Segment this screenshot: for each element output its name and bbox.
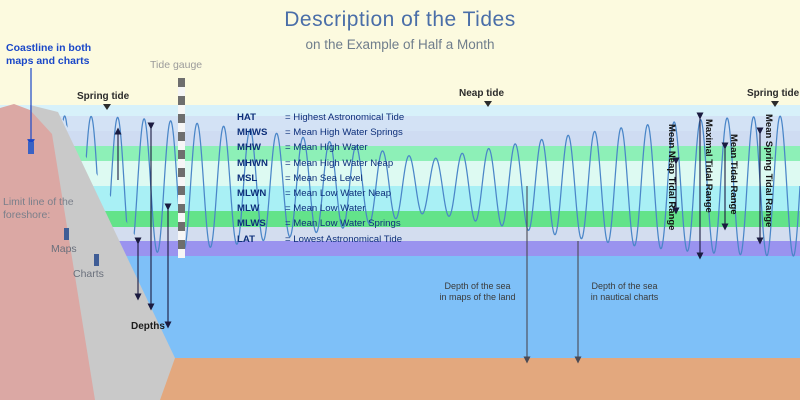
neap-tide-label: Neap tide xyxy=(459,88,504,99)
charts-label: Charts xyxy=(73,268,104,280)
legend-row: MLWS= Mean Low Water Springs xyxy=(237,216,404,231)
gauge-stripe xyxy=(178,249,185,258)
legend-row: MHWN= Mean High Water Neap xyxy=(237,156,404,171)
legend-abbr: MLWN xyxy=(237,186,285,201)
gauge-stripe xyxy=(178,132,185,141)
gauge-stripe xyxy=(178,231,185,240)
vrange-mean-neap: Mean Neap Tidal Range xyxy=(666,124,677,230)
legend-abbr: MHWN xyxy=(237,156,285,171)
gauge-stripe xyxy=(178,186,185,195)
limit-note-line1: Limit line of the xyxy=(3,196,74,209)
legend-abbr: MHW xyxy=(237,140,285,155)
legend-abbr: MSL xyxy=(237,171,285,186)
gauge-stripe xyxy=(178,105,185,114)
coastline-note: Coastline in both maps and charts xyxy=(6,42,91,68)
legend-row: HAT= Highest Astronomical Tide xyxy=(237,110,404,125)
tidal-curve xyxy=(58,116,800,256)
tide-diagram: Description of the Tides on the Example … xyxy=(0,0,800,400)
page-title: Description of the Tides xyxy=(0,8,800,32)
gauge-stripe xyxy=(178,78,185,87)
legend-abbr: MLWS xyxy=(237,216,285,231)
spring-tide-label-left: Spring tide xyxy=(77,91,129,102)
legend-definition: = Lowest Astronomical Tide xyxy=(285,232,402,247)
coastline-note-line1: Coastline in both xyxy=(6,42,91,55)
legend-block: HAT= Highest Astronomical TideMHWS= Mean… xyxy=(237,110,404,247)
legend-abbr: LAT xyxy=(237,232,285,247)
legend-definition: = Mean Low Water Springs xyxy=(285,216,401,231)
gauge-stripe xyxy=(178,114,185,123)
gauge-stripe xyxy=(178,123,185,132)
tide-gauge-pole xyxy=(178,78,185,258)
legend-abbr: MHWS xyxy=(237,125,285,140)
vrange-mean-spring: Mean Spring Tidal Range xyxy=(763,114,774,227)
limit-marker-maps xyxy=(64,228,69,240)
tide-gauge-label: Tide gauge xyxy=(150,59,202,71)
legend-row: MHWS= Mean High Water Springs xyxy=(237,125,404,140)
spring-tide-marker-right xyxy=(771,101,779,107)
vrange-mean: Mean Tidal Range xyxy=(728,134,739,215)
legend-definition: = Mean Low Water xyxy=(285,201,365,216)
gauge-stripe xyxy=(178,159,185,168)
page-subtitle: on the Example of Half a Month xyxy=(0,37,800,52)
gauge-stripe xyxy=(178,141,185,150)
coastline-marker xyxy=(28,142,34,154)
gauge-stripe xyxy=(178,240,185,249)
gauge-stripe xyxy=(178,168,185,177)
neap-tide-marker xyxy=(484,101,492,107)
coastline-note-line2: maps and charts xyxy=(6,55,91,68)
legend-abbr: MLW xyxy=(237,201,285,216)
depth-charts-caption: Depth of the sea in nautical charts xyxy=(572,281,677,303)
gauge-stripe xyxy=(178,150,185,159)
legend-definition: = Mean High Water Springs xyxy=(285,125,403,140)
spring-tide-label-right: Spring tide xyxy=(747,88,799,99)
depths-label: Depths xyxy=(131,321,165,332)
gauge-stripe xyxy=(178,204,185,213)
depth-charts-line1: Depth of the sea xyxy=(572,281,677,292)
gauge-stripe xyxy=(178,195,185,204)
vrange-maximal: Maximal Tidal Range xyxy=(703,119,714,213)
limit-line-note: Limit line of the foreshore: xyxy=(3,196,74,222)
gauge-stripe xyxy=(178,177,185,186)
legend-definition: = Mean High Water xyxy=(285,140,368,155)
gauge-stripe xyxy=(178,213,185,222)
gauge-stripe xyxy=(178,96,185,105)
spring-tide-marker-left xyxy=(103,104,111,110)
legend-row: MLWN= Mean Low Water Neap xyxy=(237,186,404,201)
depth-maps-line1: Depth of the sea xyxy=(425,281,530,292)
legend-row: LAT= Lowest Astronomical Tide xyxy=(237,232,404,247)
legend-row: MHW= Mean High Water xyxy=(237,140,404,155)
depth-maps-caption: Depth of the sea in maps of the land xyxy=(425,281,530,303)
limit-note-line2: foreshore: xyxy=(3,209,74,222)
legend-abbr: HAT xyxy=(237,110,285,125)
legend-definition: = Mean High Water Neap xyxy=(285,156,393,171)
depth-charts-line2: in nautical charts xyxy=(572,292,677,303)
legend-definition: = Mean Low Water Neap xyxy=(285,186,391,201)
depth-maps-line2: in maps of the land xyxy=(425,292,530,303)
maps-label: Maps xyxy=(51,243,77,255)
limit-marker-charts xyxy=(94,254,99,266)
legend-row: MLW= Mean Low Water xyxy=(237,201,404,216)
gauge-stripe xyxy=(178,222,185,231)
legend-definition: = Highest Astronomical Tide xyxy=(285,110,404,125)
gauge-stripe xyxy=(178,87,185,96)
legend-row: MSL= Mean Sea Level xyxy=(237,171,404,186)
legend-definition: = Mean Sea Level xyxy=(285,171,363,186)
